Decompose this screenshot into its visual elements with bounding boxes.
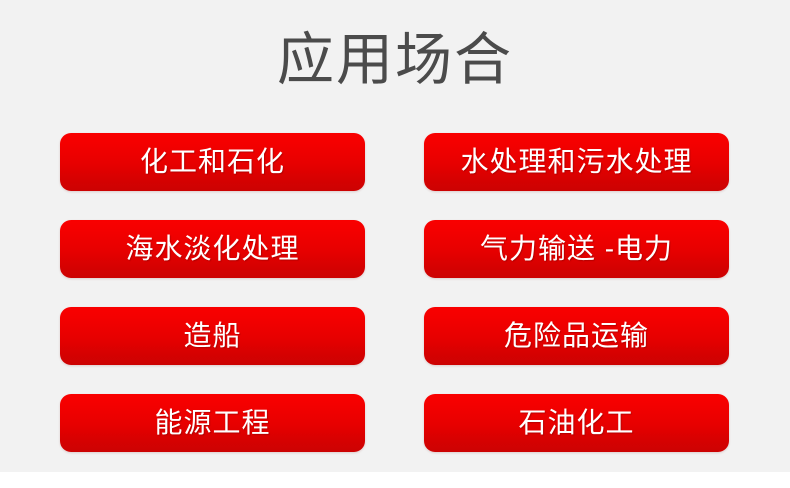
application-chip-petrochemical[interactable]: 石油化工 <box>424 394 729 452</box>
application-chip-chemical-petrochemical[interactable]: 化工和石化 <box>60 133 365 191</box>
application-chip-label: 造船 <box>183 321 241 351</box>
application-chip-grid: 化工和石化 水处理和污水处理 海水淡化处理 气力输送 -电力 造船 危险品运输 … <box>60 133 729 452</box>
application-chip-label: 海水淡化处理 <box>125 234 299 264</box>
application-chip-label: 石油化工 <box>518 408 634 438</box>
application-chip-hazardous-goods-transport[interactable]: 危险品运输 <box>424 307 729 365</box>
application-chip-shipbuilding[interactable]: 造船 <box>60 307 365 365</box>
application-chip-label: 能源工程 <box>154 408 270 438</box>
application-chip-label: 水处理和污水处理 <box>460 147 692 177</box>
application-chip-water-wastewater-treatment[interactable]: 水处理和污水处理 <box>424 133 729 191</box>
application-chip-pneumatic-conveying-power[interactable]: 气力输送 -电力 <box>424 220 729 278</box>
application-chip-energy-engineering[interactable]: 能源工程 <box>60 394 365 452</box>
page-title: 应用场合 <box>0 27 790 93</box>
application-chip-seawater-desalination[interactable]: 海水淡化处理 <box>60 220 365 278</box>
application-chip-label: 气力输送 -电力 <box>480 234 673 264</box>
application-chip-label: 化工和石化 <box>140 147 285 177</box>
content-panel: 应用场合 化工和石化 水处理和污水处理 海水淡化处理 气力输送 -电力 造船 危… <box>0 0 790 472</box>
application-scenarios-page: 应用场合 化工和石化 水处理和污水处理 海水淡化处理 气力输送 -电力 造船 危… <box>0 0 790 488</box>
application-chip-label: 危险品运输 <box>504 321 649 351</box>
